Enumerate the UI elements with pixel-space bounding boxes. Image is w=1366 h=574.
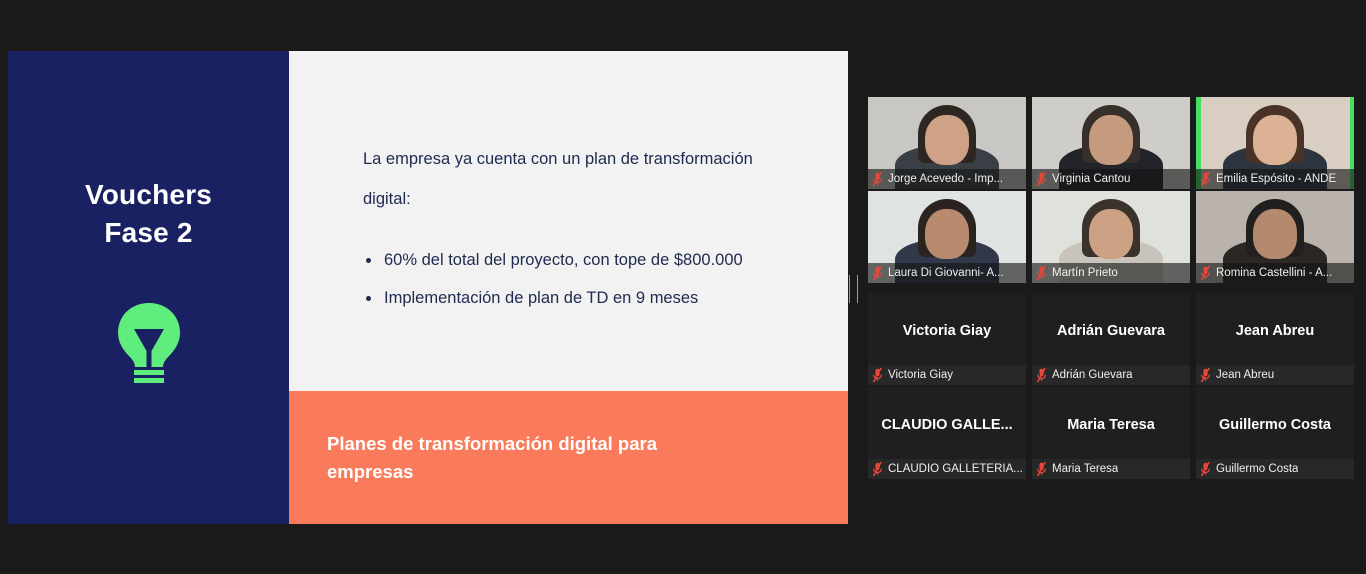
participant-tile[interactable]: Martín Prieto xyxy=(1032,191,1190,283)
participant-tile[interactable]: Laura Di Giovanni- A... xyxy=(868,191,1026,283)
participant-name: CLAUDIO GALLETERIA... xyxy=(888,459,1022,479)
mic-muted-icon xyxy=(1200,368,1211,382)
participant-name-bar: Maria Teresa xyxy=(1032,459,1190,479)
participant-name: Emilia Espósito - ANDE xyxy=(1216,169,1336,189)
mic-muted-icon xyxy=(1036,172,1047,186)
participant-tile[interactable]: Jorge Acevedo - Imp... xyxy=(868,97,1026,189)
participant-name-bar: Emilia Espósito - ANDE xyxy=(1196,169,1354,189)
participant-tile[interactable]: CLAUDIO GALLE... CLAUDIO GALLETERIA... xyxy=(868,387,1026,479)
participant-display-name: Jean Abreu xyxy=(1196,323,1354,339)
participant-name: Adrián Guevara xyxy=(1052,365,1133,385)
participant-display-name: Victoria Giay xyxy=(868,323,1026,339)
gallery-row-spacer xyxy=(868,285,1362,293)
slide-footer-banner: Planes de transformación digital para em… xyxy=(289,391,848,524)
slide-title: Vouchers Fase 2 xyxy=(8,176,289,252)
participant-name-bar: Victoria Giay xyxy=(868,365,1026,385)
gallery-row: Victoria Giay Victoria Giay Adrián Gueva… xyxy=(868,293,1362,385)
participant-name: Jorge Acevedo - Imp... xyxy=(888,169,1003,189)
gallery-row: CLAUDIO GALLE... CLAUDIO GALLETERIA... M… xyxy=(868,387,1362,479)
panel-resize-handle[interactable] xyxy=(849,275,858,303)
meeting-window: Vouchers Fase 2 La empresa ya cuenta con… xyxy=(0,0,1366,574)
mic-muted-icon xyxy=(1036,368,1047,382)
slide-bullet-list: 60% del total del proyecto, con tope de … xyxy=(363,242,796,318)
participant-name-bar: Jean Abreu xyxy=(1196,365,1354,385)
participant-name: Martín Prieto xyxy=(1052,263,1118,283)
participant-tile[interactable]: Emilia Espósito - ANDE xyxy=(1196,97,1354,189)
participant-gallery: Jorge Acevedo - Imp... Virginia Cantou E xyxy=(868,97,1362,481)
handle-line xyxy=(849,275,850,303)
participant-name-bar: Jorge Acevedo - Imp... xyxy=(868,169,1026,189)
mic-muted-icon xyxy=(1200,172,1211,186)
participant-display-name: CLAUDIO GALLE... xyxy=(868,417,1026,433)
participant-display-name: Guillermo Costa xyxy=(1196,417,1354,433)
participant-tile[interactable]: Guillermo Costa Guillermo Costa xyxy=(1196,387,1354,479)
participant-tile[interactable]: Jean Abreu Jean Abreu xyxy=(1196,293,1354,385)
slide-bullet-item: 60% del total del proyecto, con tope de … xyxy=(363,242,796,280)
mic-muted-icon xyxy=(1036,462,1047,476)
slide-lead-paragraph: La empresa ya cuenta con un plan de tran… xyxy=(363,139,793,220)
mic-muted-icon xyxy=(872,368,883,382)
mic-muted-icon xyxy=(872,462,883,476)
participant-name-bar: Virginia Cantou xyxy=(1032,169,1190,189)
participant-display-name: Adrián Guevara xyxy=(1032,323,1190,339)
slide-left-panel: Vouchers Fase 2 xyxy=(8,51,289,524)
participant-tile[interactable]: Adrián Guevara Adrián Guevara xyxy=(1032,293,1190,385)
participant-name-bar: Laura Di Giovanni- A... xyxy=(868,263,1026,283)
participant-tile[interactable]: Victoria Giay Victoria Giay xyxy=(868,293,1026,385)
shared-screen-slide[interactable]: Vouchers Fase 2 La empresa ya cuenta con… xyxy=(8,51,848,524)
slide-content-panel: La empresa ya cuenta con un plan de tran… xyxy=(289,51,848,524)
participant-name: Laura Di Giovanni- A... xyxy=(888,263,1004,283)
slide-footer-title: Planes de transformación digital para em… xyxy=(327,430,657,486)
participant-tile[interactable]: Virginia Cantou xyxy=(1032,97,1190,189)
participant-name: Jean Abreu xyxy=(1216,365,1274,385)
participant-name-bar: Guillermo Costa xyxy=(1196,459,1354,479)
participant-tile[interactable]: Maria Teresa Maria Teresa xyxy=(1032,387,1190,479)
participant-name: Virginia Cantou xyxy=(1052,169,1130,189)
handle-line xyxy=(857,275,858,303)
mic-muted-icon xyxy=(1200,462,1211,476)
mic-muted-icon xyxy=(1200,266,1211,280)
participant-tile[interactable]: Romina Castellini - A... xyxy=(1196,191,1354,283)
participant-name-bar: Adrián Guevara xyxy=(1032,365,1190,385)
mic-muted-icon xyxy=(1036,266,1047,280)
mic-muted-icon xyxy=(872,172,883,186)
slide-body: La empresa ya cuenta con un plan de tran… xyxy=(289,51,848,391)
participant-name: Romina Castellini - A... xyxy=(1216,263,1332,283)
participant-name-bar: Martín Prieto xyxy=(1032,263,1190,283)
participant-name-bar: Romina Castellini - A... xyxy=(1196,263,1354,283)
gallery-row: Jorge Acevedo - Imp... Virginia Cantou E xyxy=(868,97,1362,189)
gallery-row: Laura Di Giovanni- A... Martín Prieto Ro xyxy=(868,191,1362,283)
lightbulb-icon xyxy=(8,301,289,387)
participant-name: Guillermo Costa xyxy=(1216,459,1298,479)
participant-name-bar: CLAUDIO GALLETERIA... xyxy=(868,459,1026,479)
slide-bullet-item: Implementación de plan de TD en 9 meses xyxy=(363,280,796,318)
participant-name: Victoria Giay xyxy=(888,365,953,385)
participant-name: Maria Teresa xyxy=(1052,459,1118,479)
participant-display-name: Maria Teresa xyxy=(1032,417,1190,433)
mic-muted-icon xyxy=(872,266,883,280)
